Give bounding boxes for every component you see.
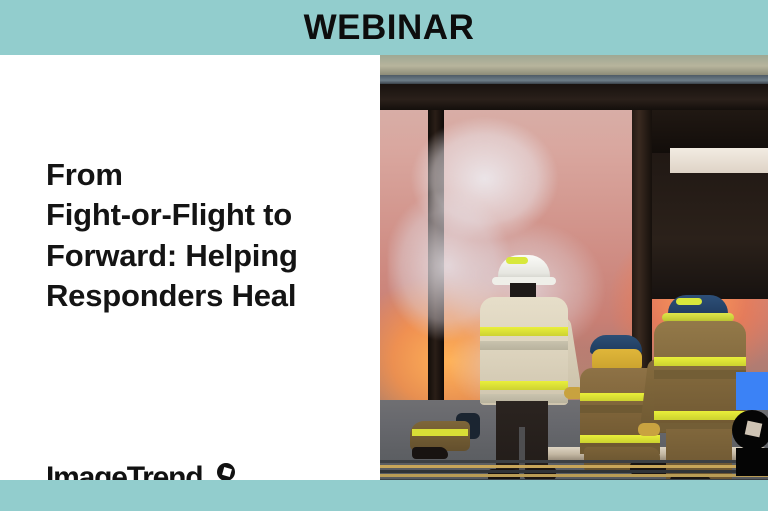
footer-bar [0,480,768,511]
webinar-label: WEBINAR [5,0,768,55]
coat-stripe-lower [480,381,568,390]
coat-stripe-upper-dark [480,341,568,350]
header-bar: WEBINAR [0,0,768,55]
coat-stripe-upper [480,327,568,336]
bright-window-slot [670,148,768,173]
headline-line-2: Fight-or-Flight to [46,195,366,235]
coat-stripe-upper-dark [654,370,746,379]
page-title: From Fight-or-Flight to Forward: Helping… [46,155,366,316]
charred-beam-underside [380,84,768,110]
boot [412,447,448,459]
coat-stripe-upper [654,357,746,366]
concrete-beam [380,55,768,75]
reflective-stripe [412,429,468,436]
blue-accent-block [736,372,768,410]
brand-overlay [736,372,768,480]
street-line-2-yellow [380,465,768,468]
coat-stripe-lower [580,435,660,443]
headline-line-1: From [46,155,366,195]
headline-line-3: Forward: Helping [46,236,366,276]
webinar-promo-card: WEBINAR From Fight-or-Flight to Forward:… [0,0,768,511]
left-text-panel: From Fight-or-Flight to Forward: Helping… [0,55,380,480]
street-line-3 [380,470,768,473]
coat-stripe-lower [654,411,746,420]
glove [638,423,660,436]
headline-line-4: Responders Heal [46,276,366,316]
helmet-reflective-stripe [506,257,528,264]
standing-firefighter [476,255,572,480]
street-line-1 [380,460,768,463]
helmet-reflective-stripe [676,298,702,305]
person-body-shape [736,448,768,476]
person-head-notch [745,421,763,438]
firefighters-photo [380,55,768,480]
street-line-4-yellow [380,474,768,477]
steel-beam [380,75,768,84]
